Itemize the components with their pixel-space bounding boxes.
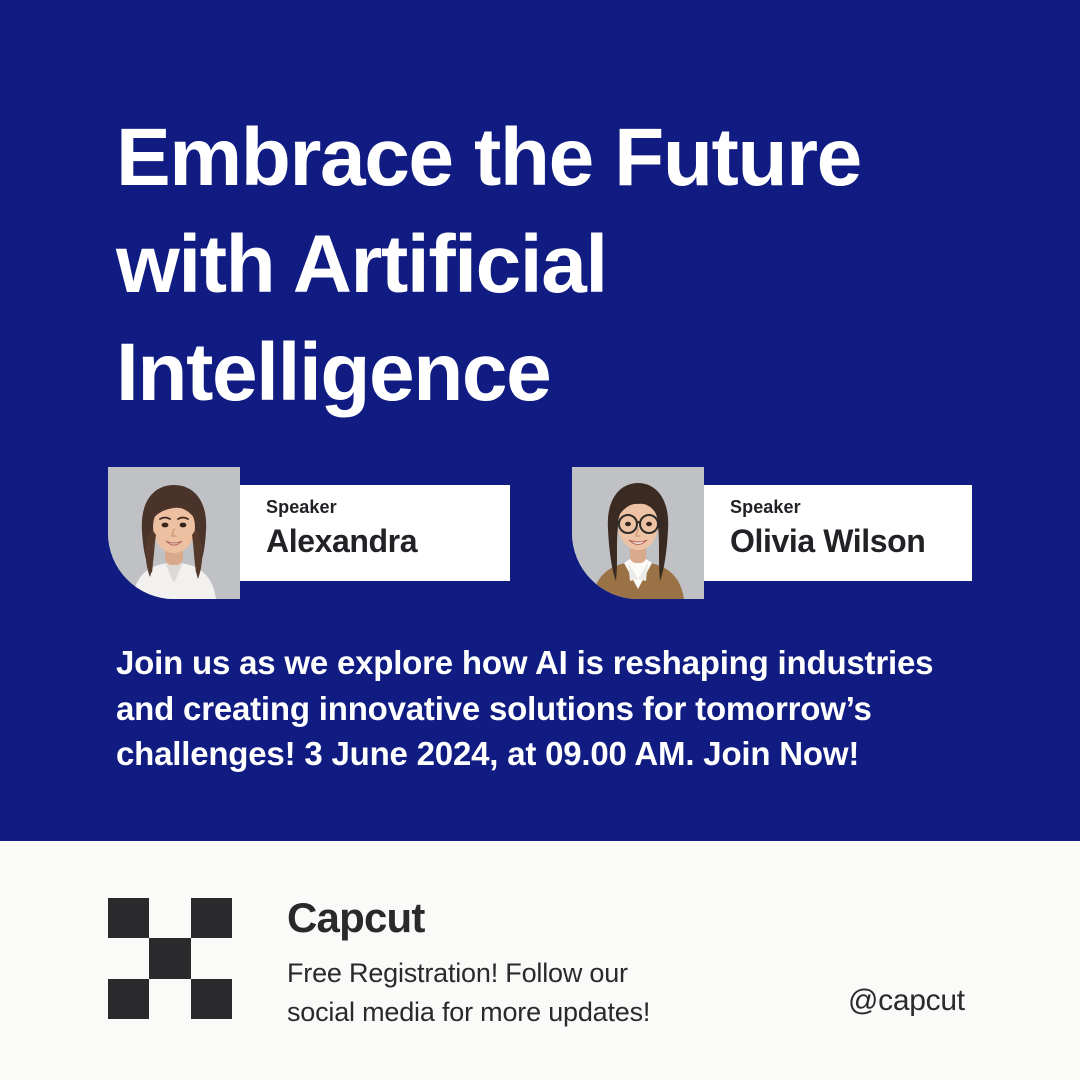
speaker-role-label: Speaker [730,498,972,516]
logo-cell [108,979,149,1019]
speaker-name: Olivia Wilson [730,525,972,559]
speaker-nameplate: Speaker Alexandra [240,485,510,581]
footer-tagline: Free Registration! Follow our social med… [287,954,717,1032]
speaker-name: Alexandra [266,525,510,559]
event-description: Join us as we explore how AI is reshapin… [116,640,996,777]
logo-cell [191,979,232,1019]
logo-cell [108,938,149,978]
speaker-nameplate: Speaker Olivia Wilson [704,485,972,581]
brand-name: Capcut [287,897,425,939]
logo-cell [149,898,190,938]
hero-section: Embrace the Future with Artificial Intel… [0,0,1080,841]
speaker-portrait-icon [572,467,704,599]
event-poster: Embrace the Future with Artificial Intel… [0,0,1080,1080]
social-handle[interactable]: @capcut [848,986,965,1016]
logo-cell [191,898,232,938]
page-title: Embrace the Future with Artificial Intel… [116,104,996,426]
footer-section: Capcut Free Registration! Follow our soc… [0,841,1080,1080]
speaker-list: Speaker Alexandra [0,467,1080,599]
speaker-role-label: Speaker [266,498,510,516]
logo-cell [191,938,232,978]
checkerboard-x-logo-icon [108,898,232,1019]
logo-cell [108,898,149,938]
logo-cell [149,938,190,978]
speaker-portrait-icon [108,467,240,599]
logo-cell [149,979,190,1019]
